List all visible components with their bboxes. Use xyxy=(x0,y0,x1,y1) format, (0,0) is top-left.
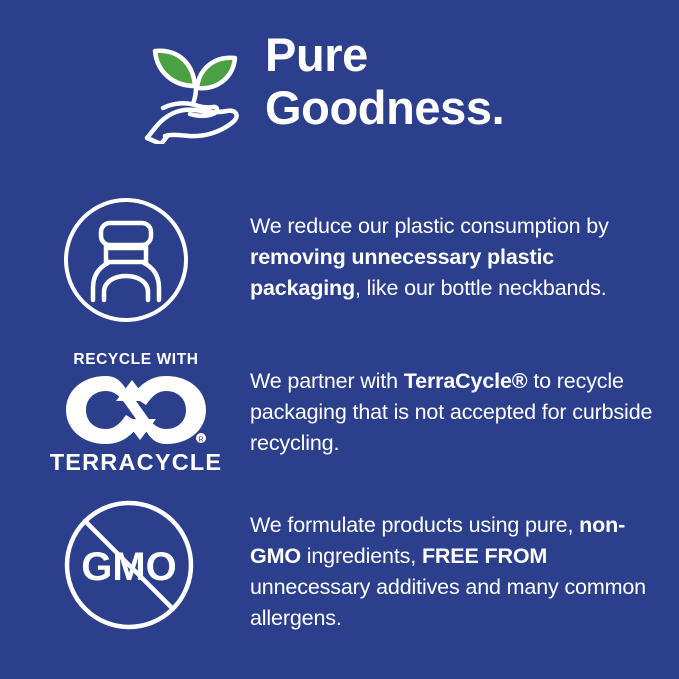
benefit-text-terracycle: We partner with TerraCycle® to recycle p… xyxy=(250,352,679,459)
benefit-row-terracycle: RECYCLE WITH R TERRACYCLE xyxy=(0,352,679,474)
icon-cell: GMO xyxy=(0,498,250,626)
header: Pure Goodness. xyxy=(0,26,679,156)
infinity-recycle-arrows-icon: R xyxy=(62,372,210,448)
hand-holding-sprout-icon xyxy=(143,34,255,144)
text-segment: ingredients, xyxy=(301,544,422,568)
benefit-text-non-gmo: We formulate products using pure, non-GM… xyxy=(250,498,679,634)
bottle-neckband-circle-icon xyxy=(62,196,190,324)
no-gmo-circle-icon: GMO xyxy=(62,498,190,626)
svg-text:R: R xyxy=(198,436,203,443)
text-segment: We formulate products using pure, xyxy=(250,513,579,537)
text-segment: , like our bottle neckbands. xyxy=(355,276,607,300)
text-segment-bold: FREE FROM xyxy=(422,544,547,568)
text-segment: We reduce our plastic consumption by xyxy=(250,214,609,238)
terracycle-logo: RECYCLE WITH R TERRACYCLE xyxy=(62,352,210,474)
benefit-text-plastic-reduction: We reduce our plastic consumption by rem… xyxy=(250,196,679,304)
terracycle-top-label: RECYCLE WITH xyxy=(73,352,198,368)
text-segment: We partner with xyxy=(250,369,404,393)
benefit-row-plastic-reduction: We reduce our plastic consumption by rem… xyxy=(0,196,679,324)
no-gmo-label: GMO xyxy=(81,545,177,589)
benefit-row-non-gmo: GMO We formulate products using pure, no… xyxy=(0,498,679,634)
text-segment: unnecessary additives and many common al… xyxy=(250,575,646,630)
icon-cell xyxy=(0,196,250,324)
page-title: Pure Goodness. xyxy=(265,26,504,134)
pure-goodness-infographic: Pure Goodness. We reduce our plastic c xyxy=(0,0,679,679)
text-segment-bold: TerraCycle® xyxy=(404,369,528,393)
icon-cell: RECYCLE WITH R TERRACYCLE xyxy=(0,352,250,474)
terracycle-bottom-label: TERRACYCLE xyxy=(50,451,223,475)
